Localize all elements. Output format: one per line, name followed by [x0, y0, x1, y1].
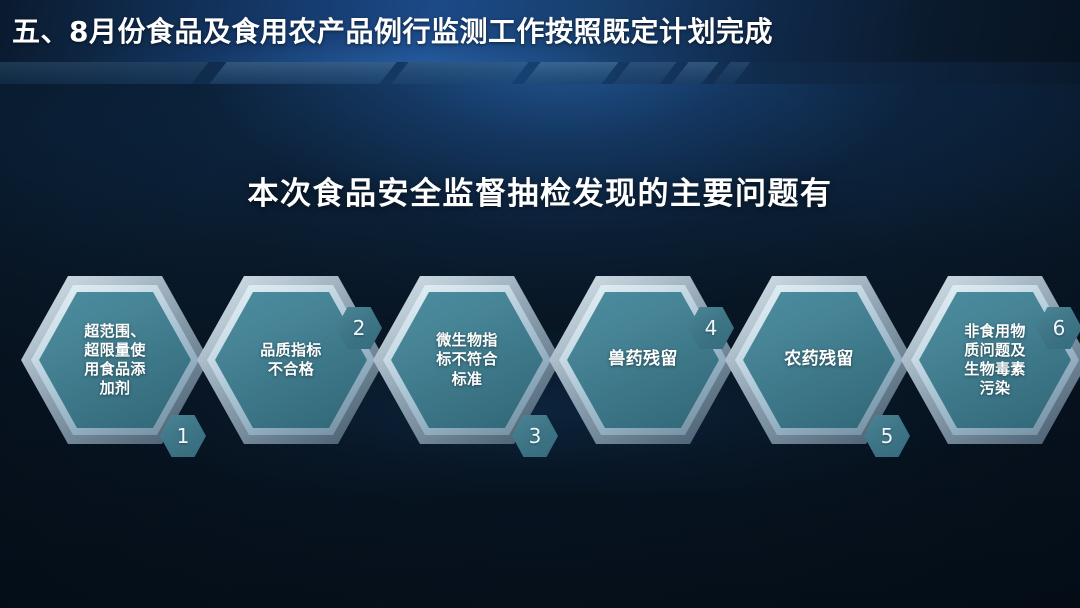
decorative-stripe-band	[0, 62, 1080, 84]
hex-item-label: 超范围、 超限量使 用食品添 加剂	[63, 322, 167, 399]
stripe-segment	[0, 62, 213, 84]
hex-item-label: 非食用物 质问题及 生物毒素 污染	[943, 322, 1047, 399]
stripe-segment	[205, 62, 402, 84]
hex-item-label: 品质指标 不合格	[239, 341, 343, 379]
slide-canvas: 五、8月份食品及食用农产品例行监测工作按照既定计划完成 本次食品安全监督抽检发现…	[0, 0, 1080, 608]
slide-subtitle: 本次食品安全监督抽检发现的主要问题有	[0, 168, 1080, 213]
hex-item-label: 农药残留	[767, 349, 871, 371]
hex-item-label: 兽药残留	[591, 349, 695, 371]
slide-title: 五、8月份食品及食用农产品例行监测工作按照既定计划完成	[12, 10, 773, 50]
hex-item-2[interactable]: 品质指标 不合格	[197, 276, 385, 444]
hex-item-4[interactable]: 兽药残留	[549, 276, 737, 444]
title-bar: 五、8月份食品及食用农产品例行监测工作按照既定计划完成	[0, 0, 1080, 62]
stripe-segment	[387, 62, 534, 84]
hexagon-process-row: 超范围、 超限量使 用食品添 加剂 品质指标 不合格 微生物指 标不符合 标准 …	[0, 276, 1080, 466]
hex-item-6[interactable]: 非食用物 质问题及 生物毒素 污染	[901, 276, 1080, 444]
hex-item-label: 微生物指 标不符合 标准	[415, 331, 519, 389]
